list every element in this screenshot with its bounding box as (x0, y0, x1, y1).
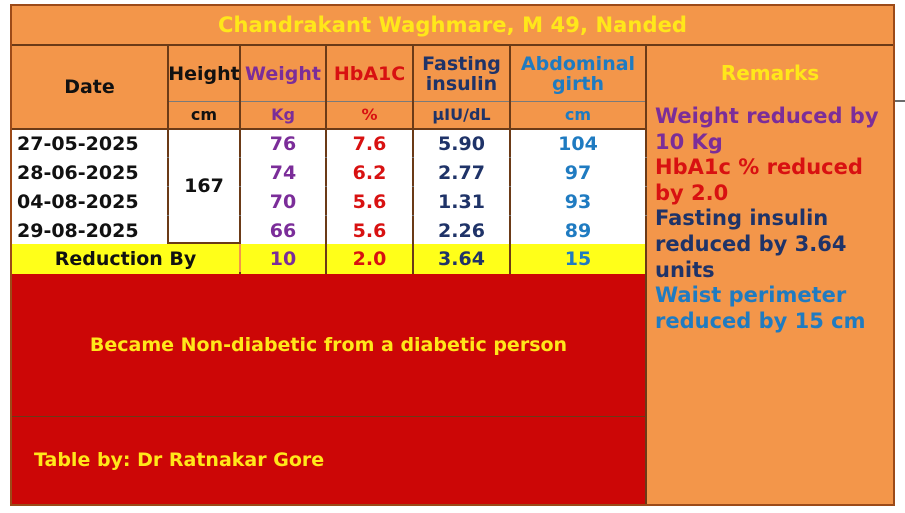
table-row-hba1c: 6.2 (327, 159, 412, 188)
column-unit-fasting-insulin: µIU/dL (414, 102, 509, 128)
table-row-date: 27-05-2025 (12, 130, 167, 159)
table-row-date: 29-08-2025 (12, 217, 167, 246)
reduction-weight: 10 (241, 244, 325, 274)
table-row-girth: 89 (511, 217, 645, 246)
table-row-date: 04-08-2025 (12, 188, 167, 217)
table-row-hba1c: 7.6 (327, 130, 412, 159)
column-header-height: Height (169, 46, 239, 102)
table-row-insulin: 1.31 (414, 188, 509, 217)
column-header-date: Date (12, 46, 167, 128)
table-row-weight: 66 (241, 217, 325, 246)
remark-fasting-insulin: Fasting insulin reduced by 3.64 units (655, 206, 893, 283)
results-table-sheet: Chandrakant Waghmare, M 49, Nanded Date … (0, 0, 905, 513)
remark-weight: Weight reduced by 10 Kg (655, 104, 893, 155)
reduction-row-label: Reduction By (12, 244, 239, 274)
column-header-hba1c: HbA1C (327, 46, 412, 102)
column-header-fasting-insulin: Fasting insulin (414, 46, 509, 102)
column-header-remarks: Remarks (647, 46, 893, 102)
table-row-weight: 74 (241, 159, 325, 188)
column-header-abdominal-girth: Abdominal girth (511, 46, 645, 102)
table-row-weight: 70 (241, 188, 325, 217)
table-row-girth: 93 (511, 188, 645, 217)
table-row-hba1c: 5.6 (327, 217, 412, 246)
table-row-girth: 104 (511, 130, 645, 159)
remark-waist-perimeter: Waist perimeter reduced by 15 cm (655, 283, 893, 334)
column-unit-height: cm (169, 102, 239, 128)
page-title: Chandrakant Waghmare, M 49, Nanded (12, 6, 893, 44)
remark-hba1c: HbA1c % reduced by 2.0 (655, 155, 893, 206)
patient-results-table: Chandrakant Waghmare, M 49, Nanded Date … (10, 4, 895, 506)
conclusion-banner: Became Non-diabetic from a diabetic pers… (12, 274, 645, 416)
reduction-hba1c: 2.0 (327, 244, 412, 274)
table-row-insulin: 2.77 (414, 159, 509, 188)
remarks-list: Weight reduced by 10 Kg HbA1c % reduced … (647, 102, 893, 504)
column-unit-hba1c: % (327, 102, 412, 128)
table-row-insulin: 5.90 (414, 130, 509, 159)
table-row-weight: 76 (241, 130, 325, 159)
table-row-hba1c: 5.6 (327, 188, 412, 217)
table-row-date: 28-06-2025 (12, 159, 167, 188)
column-header-weight: Weight (241, 46, 325, 102)
column-unit-weight: Kg (241, 102, 325, 128)
credit-banner: Table by: Dr Ratnakar Gore (12, 417, 645, 504)
table-row-insulin: 2.26 (414, 217, 509, 246)
height-value-merged: 167 (169, 130, 239, 242)
table-row-girth: 97 (511, 159, 645, 188)
column-unit-abdominal-girth: cm (511, 102, 645, 128)
reduction-girth: 15 (511, 244, 645, 274)
reduction-insulin: 3.64 (414, 244, 509, 274)
